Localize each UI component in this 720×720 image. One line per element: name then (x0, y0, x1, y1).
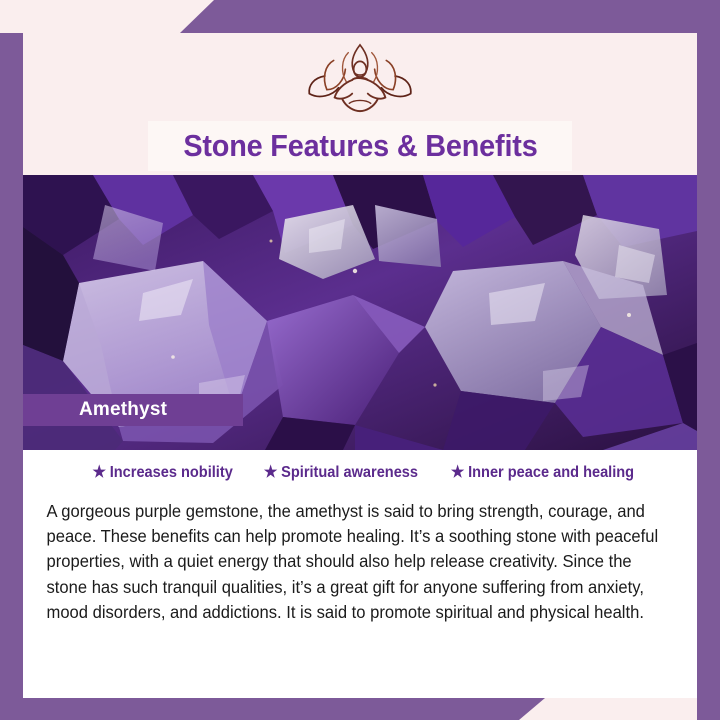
benefit-item: ★ Inner peace and healing (451, 464, 634, 482)
frame-accent-left (0, 33, 23, 720)
stone-photo: Amethyst (23, 175, 697, 450)
product-info-card: BUDDHA STONES Stone Features & Benefits (0, 0, 720, 720)
lotus-meditation-icon (304, 39, 416, 117)
benefit-label: Increases nobility (110, 464, 233, 482)
benefit-label: Spiritual awareness (281, 464, 418, 482)
frame-accent-right (697, 0, 720, 720)
page-title: Stone Features & Benefits (183, 128, 537, 164)
benefit-item: ★ Increases nobility (92, 464, 232, 482)
frame-accent-bottom (0, 698, 545, 720)
stone-name: Amethyst (23, 399, 167, 421)
stone-name-banner: Amethyst (23, 394, 243, 426)
card-body: BUDDHA STONES Stone Features & Benefits (23, 33, 697, 698)
star-icon: ★ (92, 465, 105, 481)
stone-details: ★ Increases nobility ★ Spiritual awarene… (23, 450, 697, 698)
star-icon: ★ (264, 465, 277, 481)
benefit-label: Inner peace and healing (468, 464, 634, 482)
frame-accent-top (180, 0, 720, 33)
benefit-item: ★ Spiritual awareness (264, 464, 418, 482)
benefits-list: ★ Increases nobility ★ Spiritual awarene… (33, 464, 687, 482)
page-title-banner: Stone Features & Benefits (148, 121, 572, 171)
stone-description: A gorgeous purple gemstone, the amethyst… (33, 499, 664, 625)
star-icon: ★ (451, 465, 464, 481)
